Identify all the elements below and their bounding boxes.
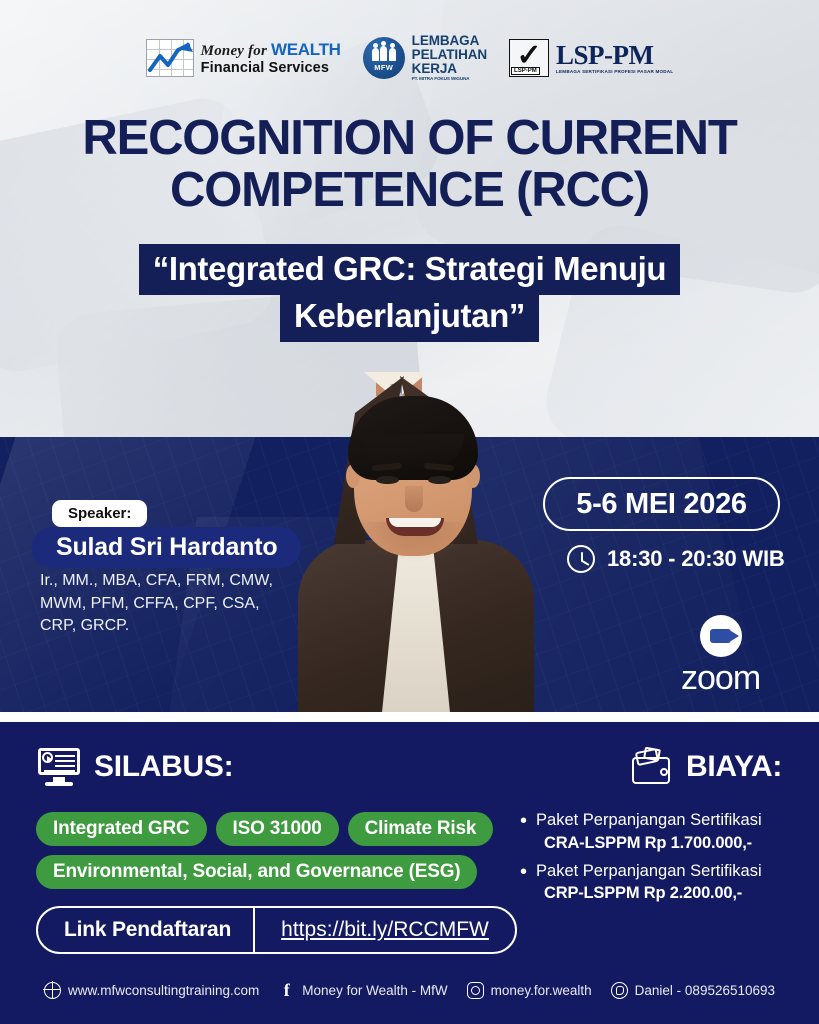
zoom-wordmark: zoom: [681, 659, 760, 698]
page-title: RECOGNITION OF CURRENT COMPETENCE (RCC): [0, 113, 819, 217]
footer-whatsapp-label: Daniel - 089526510693: [635, 983, 775, 998]
subtitle-line-1: “Integrated GRC: Strategi Menuju: [139, 244, 680, 295]
contact-footer: www.mfwconsultingtraining.com f Money fo…: [0, 970, 819, 1010]
footer-instagram-label: money.for.wealth: [491, 983, 592, 998]
biaya-item: • Paket Perpanjangan Sertifikasi CRP-LSP…: [520, 861, 810, 906]
video-camera-icon: [700, 615, 742, 657]
zoom-logo: zoom: [681, 615, 760, 698]
event-date: 5-6 MEI 2026: [543, 477, 780, 531]
silabus-tag-list: Integrated GRC ISO 31000 Climate Risk En…: [36, 812, 506, 889]
biaya-heading-label: BIAYA:: [686, 750, 782, 784]
footer-whatsapp[interactable]: Daniel - 089526510693: [611, 982, 775, 999]
footer-website[interactable]: www.mfwconsultingtraining.com: [44, 982, 259, 999]
logo-strip: Money for WEALTH Financial Services MFW …: [0, 28, 819, 88]
silabus-heading-label: SILABUS:: [94, 750, 233, 784]
bullet-icon: •: [520, 861, 527, 906]
whatsapp-icon: [611, 982, 628, 999]
subtitle-banner: “Integrated GRC: Strategi Menuju Keberla…: [0, 244, 819, 342]
subtitle-line-2: Keberlanjutan”: [280, 295, 539, 342]
section-divider: [0, 712, 819, 722]
logo-lsp-pm: ✓ LSP-PM LSP-PM LEMBAGA SERTIFIKASI PROF…: [509, 39, 673, 77]
silabus-tag: ISO 31000: [216, 812, 339, 846]
logo-money-for-wealth: Money for WEALTH Financial Services: [146, 39, 341, 77]
globe-icon: [44, 982, 61, 999]
silabus-heading: SILABUS:: [38, 748, 233, 786]
footer-website-label: www.mfwconsultingtraining.com: [68, 983, 259, 998]
speaker-photo: [272, 372, 558, 712]
biaya-item-price: CRP-LSPPM Rp 2.200.00,-: [544, 883, 762, 905]
logo-lembaga-pelatihan-kerja: MFW LEMBAGA PELATIHAN KERJA PT. MITRA FO…: [363, 34, 487, 82]
registration-label: Link Pendaftaran: [38, 908, 255, 952]
biaya-item-label: Paket Perpanjangan Sertifikasi: [536, 862, 762, 880]
silabus-tag: Integrated GRC: [36, 812, 207, 846]
title-line-1: RECOGNITION OF CURRENT: [0, 113, 819, 165]
event-time: 18:30 - 20:30 WIB: [607, 546, 785, 572]
chart-growth-icon: [146, 39, 194, 77]
logo-mfw-line1-bold: WEALTH: [271, 40, 341, 59]
speaker-name: Sulad Sri Hardanto: [32, 527, 301, 568]
registration-url[interactable]: https://bit.ly/RCCMFW: [255, 918, 515, 942]
speaker-label: Speaker:: [52, 500, 147, 527]
checkmark-icon: ✓ LSP-PM: [509, 39, 549, 77]
footer-instagram[interactable]: money.for.wealth: [467, 982, 592, 999]
logo-lsp-tag: LSP-PM: [511, 67, 540, 75]
title-line-2: COMPETENCE (RCC): [0, 165, 819, 217]
silabus-tag: Climate Risk: [348, 812, 494, 846]
biaya-item-label: Paket Perpanjangan Sertifikasi: [536, 811, 762, 829]
logo-lpk-badge-text: MFW: [374, 63, 393, 72]
biaya-item-price: CRA-LSPPM Rp 1.700.000,-: [544, 833, 762, 855]
biaya-item: • Paket Perpanjangan Sertifikasi CRA-LSP…: [520, 810, 810, 855]
event-time-row: 18:30 - 20:30 WIB: [567, 545, 785, 573]
logo-mfw-line1-italic: Money for: [201, 43, 267, 59]
bullet-icon: •: [520, 810, 527, 855]
facebook-icon: f: [278, 982, 295, 999]
registration-link-pill[interactable]: Link Pendaftaran https://bit.ly/RCCMFW: [36, 906, 517, 954]
wallet-icon: [632, 748, 672, 786]
silabus-tag: Environmental, Social, and Governance (E…: [36, 855, 477, 889]
footer-facebook[interactable]: f Money for Wealth - MfW: [278, 982, 447, 999]
speaker-credentials: Ir., MM., MBA, CFA, FRM, CMW, MWM, PFM, …: [40, 570, 290, 638]
logo-lpk-subtitle: PT. MITRA FOKUS WIGUNA: [412, 77, 487, 82]
biaya-price-list: • Paket Perpanjangan Sertifikasi CRA-LSP…: [520, 810, 810, 911]
footer-facebook-label: Money for Wealth - MfW: [302, 983, 447, 998]
people-group-icon: MFW: [363, 37, 405, 79]
biaya-heading: BIAYA:: [632, 748, 782, 786]
logo-lpk-line1: LEMBAGA: [412, 34, 487, 48]
logo-lpk-line2: PELATIHAN: [412, 48, 487, 62]
clock-icon: [567, 545, 595, 573]
logo-lsp-name: LSP-PM: [556, 42, 673, 69]
logo-mfw-line2: Financial Services: [201, 61, 341, 76]
instagram-icon: [467, 982, 484, 999]
presentation-screen-icon: [38, 748, 80, 786]
logo-lpk-line3: KERJA: [412, 62, 487, 76]
logo-lsp-subtitle: LEMBAGA SERTIFIKASI PROFESI PASAR MODAL: [556, 70, 673, 75]
